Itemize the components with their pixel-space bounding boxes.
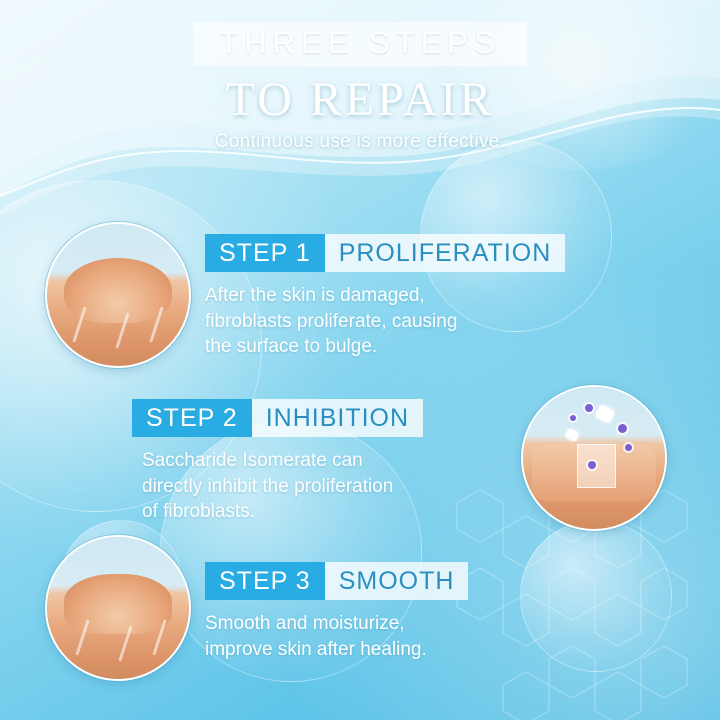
step-3-body-line: Smooth and moisturize,	[205, 611, 605, 637]
step-2-body-line: Saccharide Isomerate can	[142, 448, 532, 474]
step-1-body-line: fibroblasts proliferate, causing	[205, 309, 605, 335]
skin-bulge-shape	[64, 574, 172, 634]
step-2: STEP 2 INHIBITION Saccharide Isomerate c…	[132, 399, 532, 525]
step-2-body-line: of fibroblasts.	[142, 499, 532, 525]
step-3-image	[45, 535, 191, 681]
step-3-title: SMOOTH	[325, 562, 469, 600]
ice-cube-shape	[577, 444, 616, 489]
molecule-dot	[625, 444, 632, 451]
step-2-label-row: STEP 2 INHIBITION	[132, 399, 532, 437]
step-1-body-line: the surface to bulge.	[205, 334, 605, 360]
molecule-dot	[585, 404, 593, 412]
molecule-dot	[618, 424, 627, 433]
step-1-body-line: After the skin is damaged,	[205, 283, 605, 309]
step-3-body-line: improve skin after healing.	[205, 637, 605, 663]
step-1-image	[45, 222, 191, 368]
skin-illustration	[523, 387, 665, 529]
header-eyebrow: THREE STEPS	[193, 22, 526, 66]
step-2-tag: STEP 2	[132, 399, 252, 437]
skin-illustration	[47, 537, 189, 679]
step-2-body-line: directly inhibit the proliferation	[142, 474, 532, 500]
skin-illustration	[47, 224, 189, 366]
page-title: TO REPAIR	[0, 75, 720, 125]
step-1-body: After the skin is damaged, fibroblasts p…	[205, 283, 605, 360]
header-subtitle: Continuous use is more effective.	[0, 131, 720, 153]
step-1-tag: STEP 1	[205, 234, 325, 272]
step-2-title: INHIBITION	[252, 399, 423, 437]
poster-canvas: THREE STEPS TO REPAIR Continuous use is …	[0, 0, 720, 720]
step-2-image	[521, 385, 667, 531]
step-3: STEP 3 SMOOTH Smooth and moisturize, imp…	[205, 562, 605, 662]
poster-header: THREE STEPS TO REPAIR Continuous use is …	[0, 22, 720, 153]
step-3-tag: STEP 3	[205, 562, 325, 600]
step-1: STEP 1 PROLIFERATION After the skin is d…	[205, 234, 605, 360]
step-1-title: PROLIFERATION	[325, 234, 566, 272]
step-3-body: Smooth and moisturize, improve skin afte…	[205, 611, 605, 662]
molecule-dot	[570, 415, 576, 421]
flake-shape	[595, 404, 615, 423]
step-2-body: Saccharide Isomerate can directly inhibi…	[142, 448, 532, 525]
step-3-label-row: STEP 3 SMOOTH	[205, 562, 605, 600]
step-1-label-row: STEP 1 PROLIFERATION	[205, 234, 605, 272]
flake-shape	[564, 428, 579, 442]
